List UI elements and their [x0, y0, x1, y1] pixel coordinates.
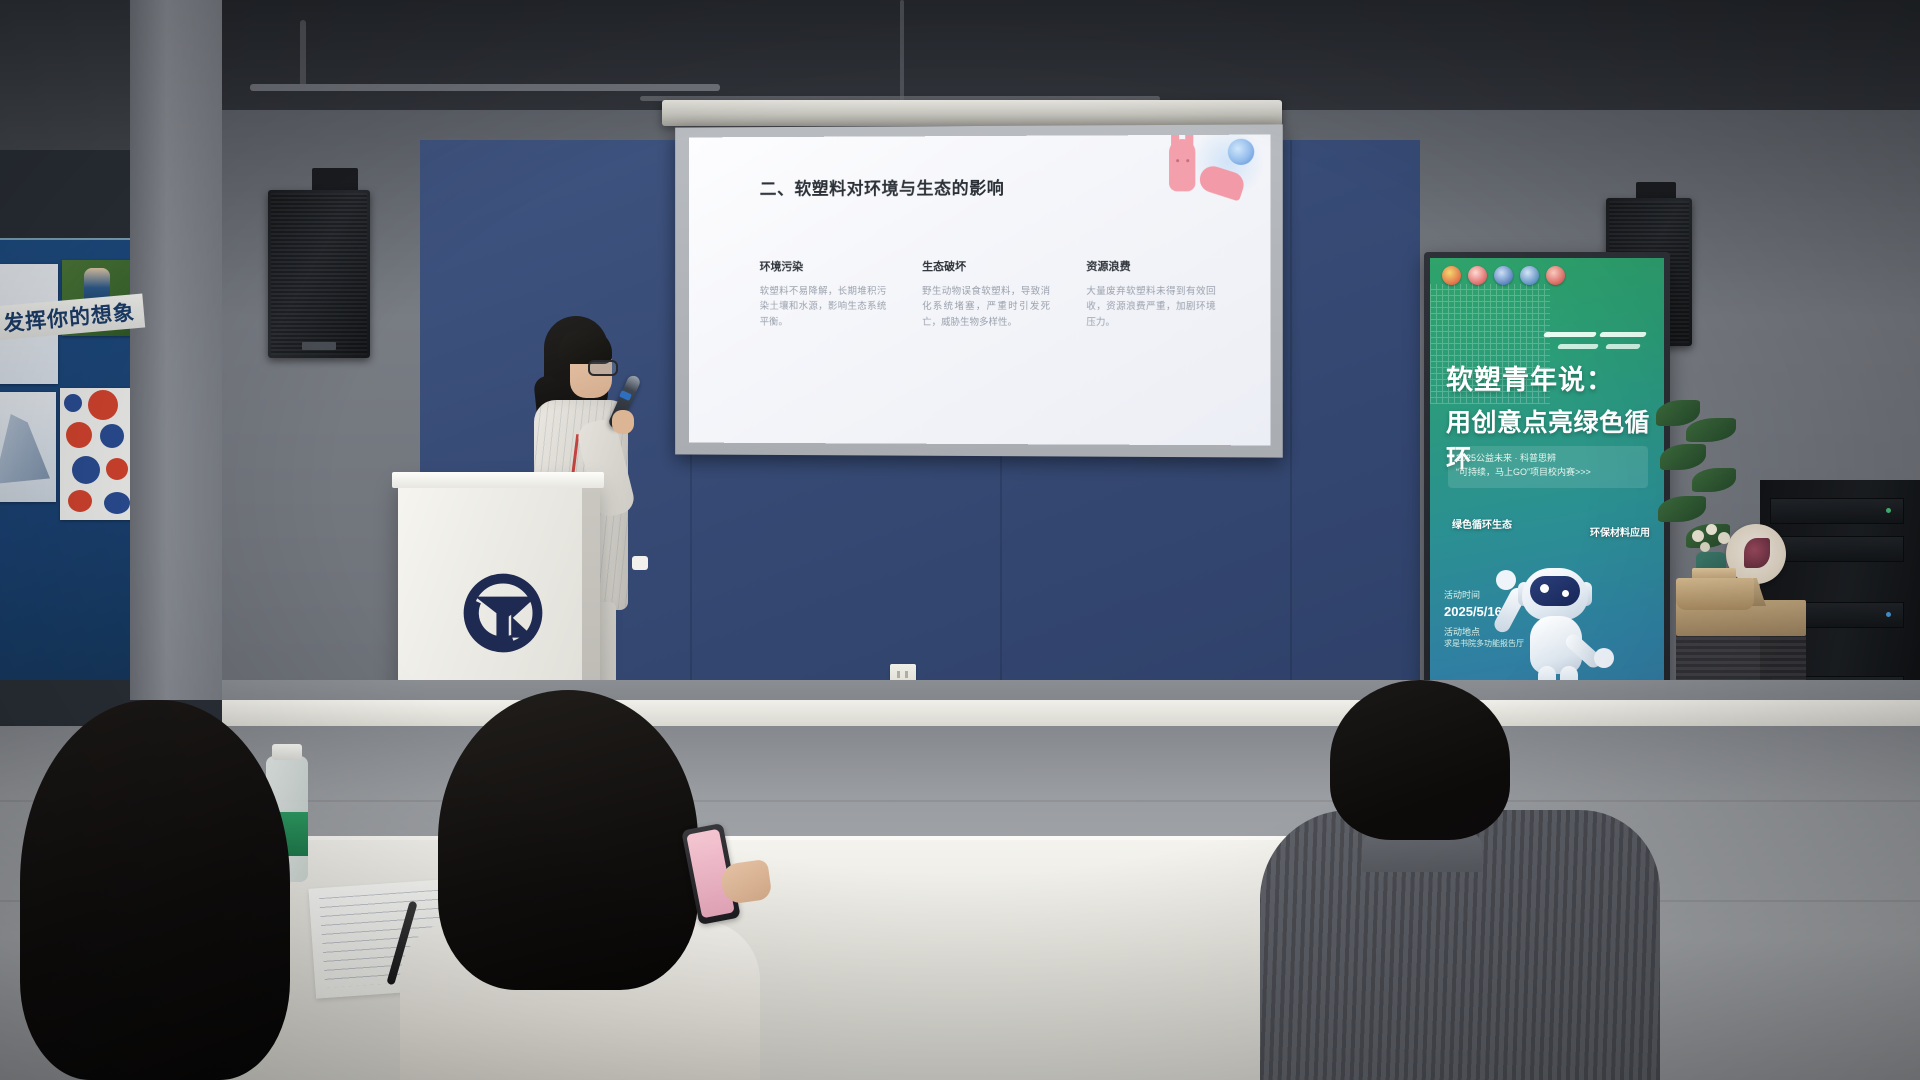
standee-subtitle-line2: “可持续，马上GO”项目校内赛>>>	[1456, 466, 1640, 480]
robot-eye-left	[1540, 584, 1549, 593]
standee-subtitle-line1: 2025公益未来 · 科普思辨	[1456, 452, 1640, 466]
tk-circle-logo-icon	[462, 572, 544, 654]
slide-blue-orb-icon	[1228, 139, 1254, 165]
presenter-hand	[612, 410, 634, 434]
slide-rabbit-icon	[1161, 135, 1206, 192]
standee-subtitle: 2025公益未来 · 科普思辨 “可持续，马上GO”项目校内赛>>>	[1448, 446, 1648, 488]
rack-led-green	[1886, 508, 1891, 513]
sponsor-logo-1	[1442, 266, 1461, 285]
ceiling-conduit	[300, 20, 306, 90]
slide-columns: 环境污染 软塑料不易降解，长期堆积污染土壤和水源，影响生态系统平衡。 生态破坏 …	[760, 258, 1230, 331]
standee-title-line1: 软塑青年说：	[1446, 358, 1652, 397]
ceiling-pipe-1	[250, 84, 720, 91]
sponsor-logo-2	[1468, 266, 1487, 285]
slide-column-1: 环境污染 软塑料不易降解，长期堆积污染土壤和水源，影响生态系统平衡。	[760, 258, 887, 330]
sponsor-logo-4	[1520, 266, 1539, 285]
ceiling-cable	[900, 0, 904, 102]
robot-hand-right	[1594, 648, 1614, 668]
rack-led-blue	[1886, 612, 1891, 617]
robot-eye-right	[1562, 590, 1569, 597]
poster-sketch	[0, 392, 56, 502]
slide-column-1-heading: 环境污染	[760, 258, 887, 274]
blue-wall-seam-3	[1290, 140, 1292, 700]
slide-column-2: 生态破坏 野生动物误食软塑料，导致消化系统堵塞，严重时引发死亡，威胁生物多样性。	[922, 258, 1050, 330]
standee-tag-2: 环保材料应用	[1590, 524, 1650, 539]
slide-column-3-heading: 资源浪费	[1086, 258, 1215, 274]
standee-swoosh-icon	[1544, 330, 1648, 356]
wooden-boat-model	[1676, 578, 1754, 610]
standee-tag-1: 绿色循环生态	[1452, 516, 1512, 531]
slide-column-3: 资源浪费 大量废弃软塑料未得到有效回收，资源浪费严重，加剧环境压力。	[1086, 258, 1215, 331]
lecture-hall-photo: 发挥你的想象 二、软塑料对环境与生态的影响 环境污染 软塑料不易降解，长期堆积污…	[0, 0, 1920, 1080]
robot-hand-left	[1496, 570, 1516, 590]
fan-flower-motif	[1744, 538, 1770, 568]
audience-left	[20, 700, 320, 1080]
sponsor-logo-3	[1494, 266, 1513, 285]
slide-column-2-body: 野生动物误食软塑料，导致消化系统堵塞，严重时引发死亡，威胁生物多样性。	[922, 284, 1050, 330]
sponsor-logo-5	[1546, 266, 1565, 285]
slide-column-1-body: 软塑料不易降解，长期堆积污染土壤和水源，影响生态系统平衡。	[760, 284, 887, 330]
audience-right	[1270, 680, 1640, 1080]
podium-top	[392, 472, 604, 488]
left-wall-column	[130, 0, 222, 700]
slide-column-3-body: 大量废弃软塑料未得到有效回收，资源浪费严重，加剧环境压力。	[1086, 284, 1215, 330]
robot-visor	[1530, 576, 1580, 606]
slide-title: 二、软塑料对环境与生态的影响	[760, 174, 1005, 200]
standee-sponsor-logos	[1442, 266, 1565, 285]
slide-column-2-heading: 生态破坏	[922, 258, 1050, 274]
poster-pattern	[60, 388, 130, 520]
glasses-icon	[588, 360, 618, 376]
presenter-fringe	[558, 330, 612, 364]
projector-screen-case	[662, 100, 1282, 126]
left-wall-speaker	[268, 190, 370, 358]
presentation-slide: 二、软塑料对环境与生态的影响 环境污染 软塑料不易降解，长期堆积污染土壤和水源，…	[689, 135, 1271, 446]
presenter-clicker[interactable]	[632, 556, 648, 570]
